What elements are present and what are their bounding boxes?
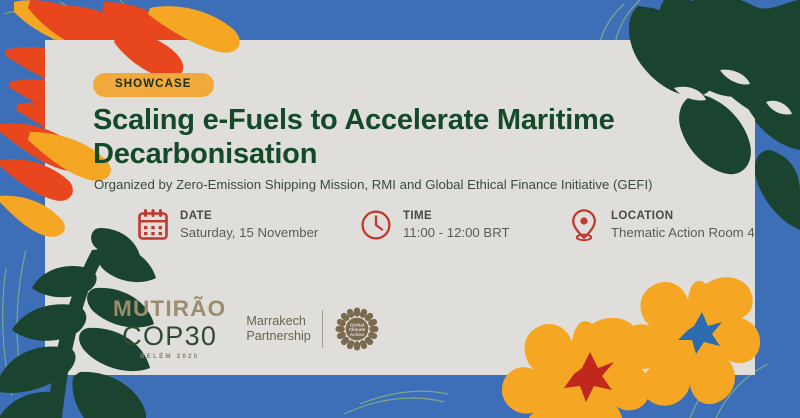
cop30-logo-cop30: COP30 (122, 322, 217, 350)
location-pin-icon (568, 208, 600, 242)
cop30-logo-belem: BELÉM 2025 (140, 354, 199, 360)
card-content: SHOWCASE Scaling e-Fuels to Accelerate M… (45, 40, 755, 375)
detail-date: DATE Saturday, 15 November (137, 208, 318, 242)
detail-date-value: Saturday, 15 November (180, 226, 318, 239)
event-poster: SHOWCASE Scaling e-Fuels to Accelerate M… (0, 0, 800, 418)
detail-time: TIME 11:00 - 12:00 BRT (360, 208, 510, 242)
detail-date-label: DATE (180, 211, 318, 223)
detail-location-value: Thematic Action Room 4 (611, 226, 755, 239)
clock-icon (360, 208, 392, 242)
detail-location-label: LOCATION (611, 211, 755, 223)
marrakech-partnership-line2: Partnership (246, 329, 310, 344)
detail-date-text: DATE Saturday, 15 November (180, 211, 318, 239)
calendar-icon (137, 208, 169, 242)
marrakech-partnership-line1: Marrakech (246, 314, 310, 329)
global-climate-action-emblem-icon: Global Climate Action (334, 306, 380, 352)
organizers-line: Organized by Zero-Emission Shipping Miss… (94, 176, 754, 193)
event-details: DATE Saturday, 15 November TIME 11:00 - … (90, 208, 790, 264)
cop30-logo: MUTIRÃO COP30 BELÉM 2025 (113, 298, 226, 360)
detail-time-text: TIME 11:00 - 12:00 BRT (403, 211, 510, 239)
logo-divider (322, 310, 323, 348)
logo-row: MUTIRÃO COP30 BELÉM 2025 Marrakech Partn… (113, 298, 380, 360)
status-badge: SHOWCASE (93, 73, 214, 97)
detail-time-label: TIME (403, 211, 510, 223)
detail-location-text: LOCATION Thematic Action Room 4 (611, 211, 755, 239)
marrakech-partnership-logo: Marrakech Partnership (246, 306, 379, 352)
cop30-logo-mutirao: MUTIRÃO (113, 298, 226, 321)
emblem-line3: Action (350, 332, 364, 337)
page-title: Scaling e-Fuels to Accelerate Maritime D… (93, 104, 733, 171)
marrakech-partnership-text: Marrakech Partnership (246, 314, 310, 345)
detail-location: LOCATION Thematic Action Room 4 (568, 208, 755, 242)
detail-time-value: 11:00 - 12:00 BRT (403, 226, 510, 239)
